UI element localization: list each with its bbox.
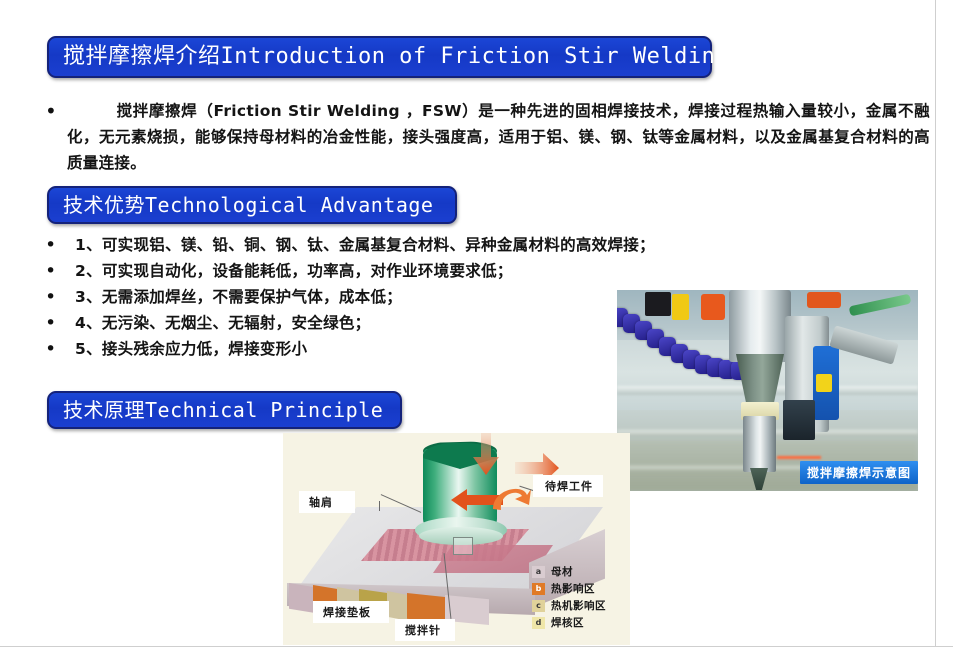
list-item-bullet: • xyxy=(45,284,75,310)
heading-technical-principle: 技术原理Technical Principle xyxy=(47,391,402,429)
legend-key-b: b xyxy=(532,583,545,595)
slide-edge-right xyxy=(935,0,936,651)
legend-label-b: 热影响区 xyxy=(551,581,595,596)
list-item-bullet: • xyxy=(45,310,75,336)
heading-technological-advantage: 技术优势Technological Advantage xyxy=(47,186,457,224)
list-item: • 3、无需添加焊丝，不需要保护气体，成本低； xyxy=(45,284,645,310)
intro-paragraph: • 搅拌摩擦焊（Friction Stir Welding ，FSW）是一种先进… xyxy=(45,98,930,176)
leader-line-shoulder-vertical xyxy=(379,501,380,511)
intro-paragraph-text: 搅拌摩擦焊（Friction Stir Welding ，FSW）是一种先进的固… xyxy=(67,98,930,176)
heading-principle-text: 技术原理Technical Principle xyxy=(63,400,383,420)
list-item: • 5、接头残余应力低，焊接变形小 xyxy=(45,336,645,362)
slide-canvas: 搅拌摩擦焊介绍Introduction of Friction Stir Wel… xyxy=(0,0,953,651)
legend-key-c: c xyxy=(532,600,545,612)
callout-workpiece: 待焊工件 xyxy=(533,475,603,497)
diagram-zone-a-left xyxy=(289,583,315,613)
list-item: • 2、可实现自动化，设备能耗低，功率高，对作业环境要求低； xyxy=(45,258,645,284)
list-item-label: 5、接头残余应力低，焊接变形小 xyxy=(75,336,307,362)
diagram-tool-pin xyxy=(453,537,473,555)
legend-item: d 焊核区 xyxy=(532,614,628,631)
slide-edge-bottom-fill xyxy=(0,647,953,651)
list-item-label: 4、无污染、无烟尘、无辐射，安全绿色； xyxy=(75,310,371,336)
list-item: • 1、可实现铝、镁、铅、铜、钢、钛、金属基复合材料、异种金属材料的高效焊接； xyxy=(45,232,645,258)
friction-stir-welding-machine-photo: 搅拌摩擦焊示意图 xyxy=(617,290,918,491)
list-item: • 4、无污染、无烟尘、无辐射，安全绿色； xyxy=(45,310,645,336)
intro-paragraph-bullet: • xyxy=(45,98,67,124)
legend-item: c 热机影响区 xyxy=(532,597,628,614)
heading-advantage-text: 技术优势Technological Advantage xyxy=(63,195,433,215)
diagram-zone-c-right xyxy=(387,591,409,621)
photo-dark-bracket xyxy=(783,400,815,440)
list-item-label: 3、无需添加焊丝，不需要保护气体，成本低； xyxy=(75,284,402,310)
photo-orange-fixture-right xyxy=(807,292,841,308)
photo-laser-line xyxy=(777,456,821,459)
rotation-arrow-curved-icon xyxy=(489,479,531,515)
legend-item: a 母材 xyxy=(532,563,628,580)
heading-introduction: 搅拌摩擦焊介绍Introduction of Friction Stir Wel… xyxy=(47,36,712,78)
photo-yellow-label xyxy=(816,374,832,392)
advantage-list: • 1、可实现铝、镁、铅、铜、钢、钛、金属基复合材料、异种金属材料的高效焊接； … xyxy=(45,232,645,362)
legend-item: b 热影响区 xyxy=(532,580,628,597)
list-item-label: 2、可实现自动化，设备能耗低，功率高，对作业环境要求低； xyxy=(75,258,513,284)
photo-tool-shaft xyxy=(743,416,776,472)
heading-introduction-text: 搅拌摩擦焊介绍Introduction of Friction Stir Wel… xyxy=(63,46,729,68)
diagram-legend: a 母材 b 热影响区 c 热机影响区 d 焊核区 xyxy=(532,563,628,631)
list-item-bullet: • xyxy=(45,258,75,284)
legend-key-a: a xyxy=(532,566,545,578)
friction-stir-welding-principle-diagram: 轴肩 待焊工件 焊接垫板 搅拌针 a 母材 b 热影响区 c 热机影响区 d 焊… xyxy=(283,433,630,645)
downward-force-arrow-icon xyxy=(473,433,499,475)
legend-label-a: 母材 xyxy=(551,564,573,579)
list-item-bullet: • xyxy=(45,232,75,258)
legend-label-d: 焊核区 xyxy=(551,615,584,630)
legend-label-c: 热机影响区 xyxy=(551,598,606,613)
callout-shoulder: 轴肩 xyxy=(299,491,355,513)
list-item-label: 1、可实现铝、镁、铅、铜、钢、钛、金属基复合材料、异种金属材料的高效焊接； xyxy=(75,232,655,258)
list-item-bullet: • xyxy=(45,336,75,362)
legend-key-d: d xyxy=(532,617,545,629)
callout-backing-plate: 焊接垫板 xyxy=(313,601,389,623)
callout-pin: 搅拌针 xyxy=(395,619,455,641)
photo-spindle xyxy=(729,290,791,362)
photo-caption-label: 搅拌摩擦焊示意图 xyxy=(800,461,918,484)
